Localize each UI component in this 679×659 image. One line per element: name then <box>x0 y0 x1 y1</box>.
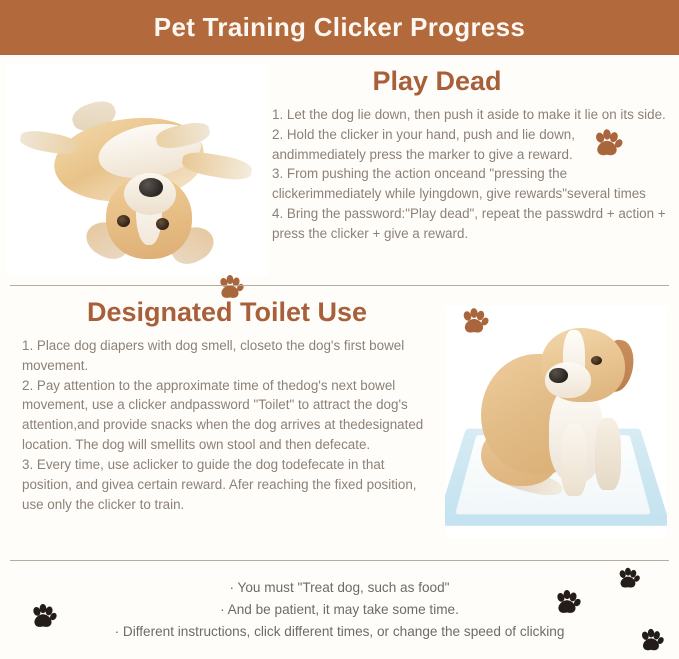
paw-print-icon <box>458 306 490 343</box>
page-header: Pet Training Clicker Progress <box>0 0 679 55</box>
dog-nose <box>549 368 568 383</box>
paw-print-icon <box>552 588 582 623</box>
section-designated-toilet-use: Designated Toilet Use 1. Place dog diape… <box>0 288 679 558</box>
dog-foreleg-right <box>595 418 621 490</box>
section-play-dead: Play Dead 1. Let the dog lie down, then … <box>0 55 679 283</box>
section-designated-toilet-use-body: 1. Place dog diapers with dog smell, clo… <box>22 336 437 514</box>
paw-print-icon <box>615 566 641 597</box>
dog-foreleg-left <box>561 424 587 496</box>
section-designated-toilet-use-heading: Designated Toilet Use <box>22 298 432 328</box>
corgi-eye-right <box>156 218 169 230</box>
paw-print-icon <box>637 627 665 659</box>
corgi-nose <box>139 178 163 197</box>
poster-page: Pet Training Clicker Progress Play Dead <box>0 0 679 659</box>
section-play-dead-body: 1. Let the dog lie down, then push it as… <box>272 105 672 244</box>
page-title: Pet Training Clicker Progress <box>154 12 525 43</box>
corgi-lying-on-back-image <box>6 63 268 275</box>
dog-eye <box>591 356 602 365</box>
section-play-dead-heading: Play Dead <box>272 67 602 97</box>
corgi-foreleg-left <box>19 128 79 157</box>
paw-print-icon <box>28 602 58 637</box>
section-divider <box>10 285 669 286</box>
corgi-eye-left <box>117 215 130 227</box>
section-divider <box>10 560 669 561</box>
footer-note: · Different instructions, click differen… <box>0 621 679 643</box>
